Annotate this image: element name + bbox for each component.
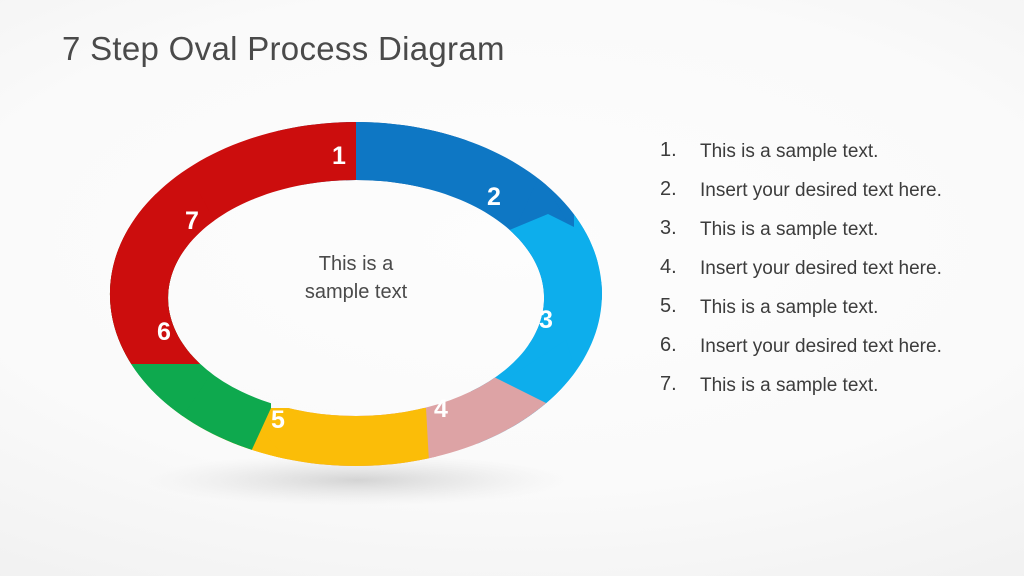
- segment-number-5: 5: [271, 406, 285, 434]
- list-item[interactable]: 1. This is a sample text.: [660, 136, 980, 167]
- slide: 7 Step Oval Process Diagram: [0, 0, 1024, 576]
- segment-number-4: 4: [434, 395, 448, 423]
- segment-number-3: 3: [539, 306, 553, 334]
- segment-number-2: 2: [487, 183, 501, 211]
- list-item[interactable]: 4. Insert your desired text here.: [660, 253, 980, 284]
- list-item[interactable]: 6. Insert your desired text here.: [660, 331, 980, 362]
- list-item-number: 6.: [660, 331, 700, 359]
- center-label-line-2: sample text: [236, 278, 476, 306]
- list-item-number: 7.: [660, 370, 700, 398]
- list-item-number: 5.: [660, 292, 700, 320]
- center-label: This is a sample text: [236, 250, 476, 306]
- list-item-text: This is a sample text.: [700, 214, 980, 245]
- segment-number-1: 1: [332, 142, 346, 170]
- segment-7-arrow: [56, 194, 252, 364]
- list-item-number: 3.: [660, 214, 700, 242]
- oval-process-diagram: 1 2 3 4 5 6 7 This is a sample text: [96, 108, 616, 488]
- list-item[interactable]: 5. This is a sample text.: [660, 292, 980, 323]
- list-item-number: 2.: [660, 175, 700, 203]
- page-title: 7 Step Oval Process Diagram: [62, 30, 505, 68]
- list-item-text: This is a sample text.: [700, 370, 980, 401]
- list-item-text: Insert your desired text here.: [700, 253, 980, 284]
- segment-number-6: 6: [157, 318, 171, 346]
- list-item-text: This is a sample text.: [700, 292, 980, 323]
- legend-list: 1. This is a sample text. 2. Insert your…: [660, 136, 980, 409]
- list-item-number: 1.: [660, 136, 700, 164]
- list-item[interactable]: 2. Insert your desired text here.: [660, 175, 980, 206]
- segment-number-7: 7: [185, 207, 199, 235]
- list-item-text: This is a sample text.: [700, 136, 980, 167]
- list-item-number: 4.: [660, 253, 700, 281]
- center-label-line-1: This is a: [236, 250, 476, 278]
- list-item-text: Insert your desired text here.: [700, 331, 980, 362]
- list-item[interactable]: 3. This is a sample text.: [660, 214, 980, 245]
- list-item[interactable]: 7. This is a sample text.: [660, 370, 980, 401]
- list-item-text: Insert your desired text here.: [700, 175, 980, 206]
